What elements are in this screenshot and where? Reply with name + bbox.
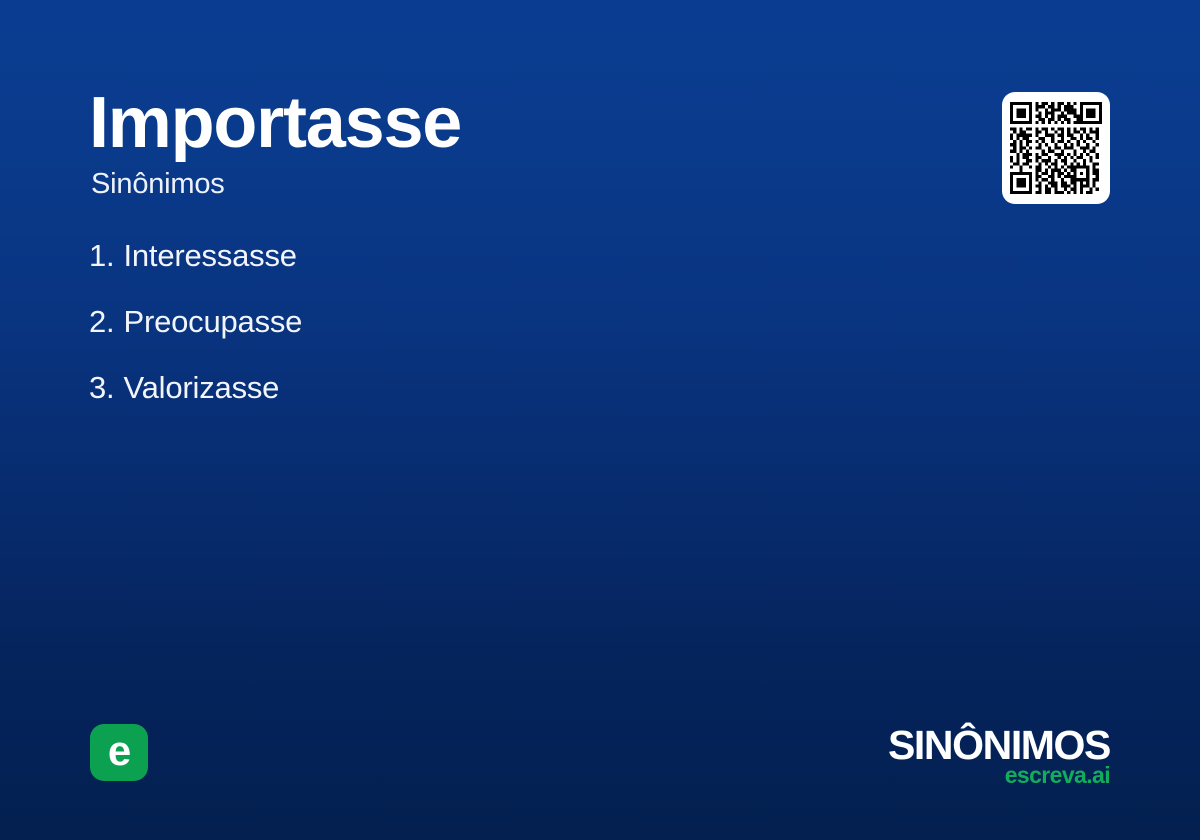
qr-code-panel[interactable]	[1002, 92, 1110, 204]
qr-code-icon	[1010, 101, 1102, 195]
brand-mark-letter: e	[108, 730, 130, 772]
list-item-index: 1.	[89, 238, 114, 274]
list-item: 1. Interessasse	[89, 238, 849, 304]
list-item-label: Interessasse	[123, 238, 296, 274]
page-subtitle: Sinônimos	[91, 168, 849, 200]
synonym-card: Importasse Sinônimos 1. Interessasse 2. …	[0, 0, 1200, 840]
list-item-label: Preocupasse	[123, 304, 302, 340]
sinonimos-logo[interactable]: SINÔNIMOS escreva.ai	[790, 724, 1110, 787]
page-title: Importasse	[89, 84, 849, 162]
list-item-index: 3.	[89, 370, 114, 406]
list-item-label: Valorizasse	[123, 370, 279, 406]
list-item: 2. Preocupasse	[89, 304, 849, 370]
synonyms-list: 1. Interessasse 2. Preocupasse 3. Valori…	[89, 238, 849, 436]
list-item-index: 2.	[89, 304, 114, 340]
header: Importasse Sinônimos	[89, 84, 849, 200]
sinonimos-logo-main: SINÔNIMOS	[790, 724, 1110, 766]
escreva-logo-mark[interactable]: e	[90, 724, 148, 781]
list-item: 3. Valorizasse	[89, 370, 849, 436]
